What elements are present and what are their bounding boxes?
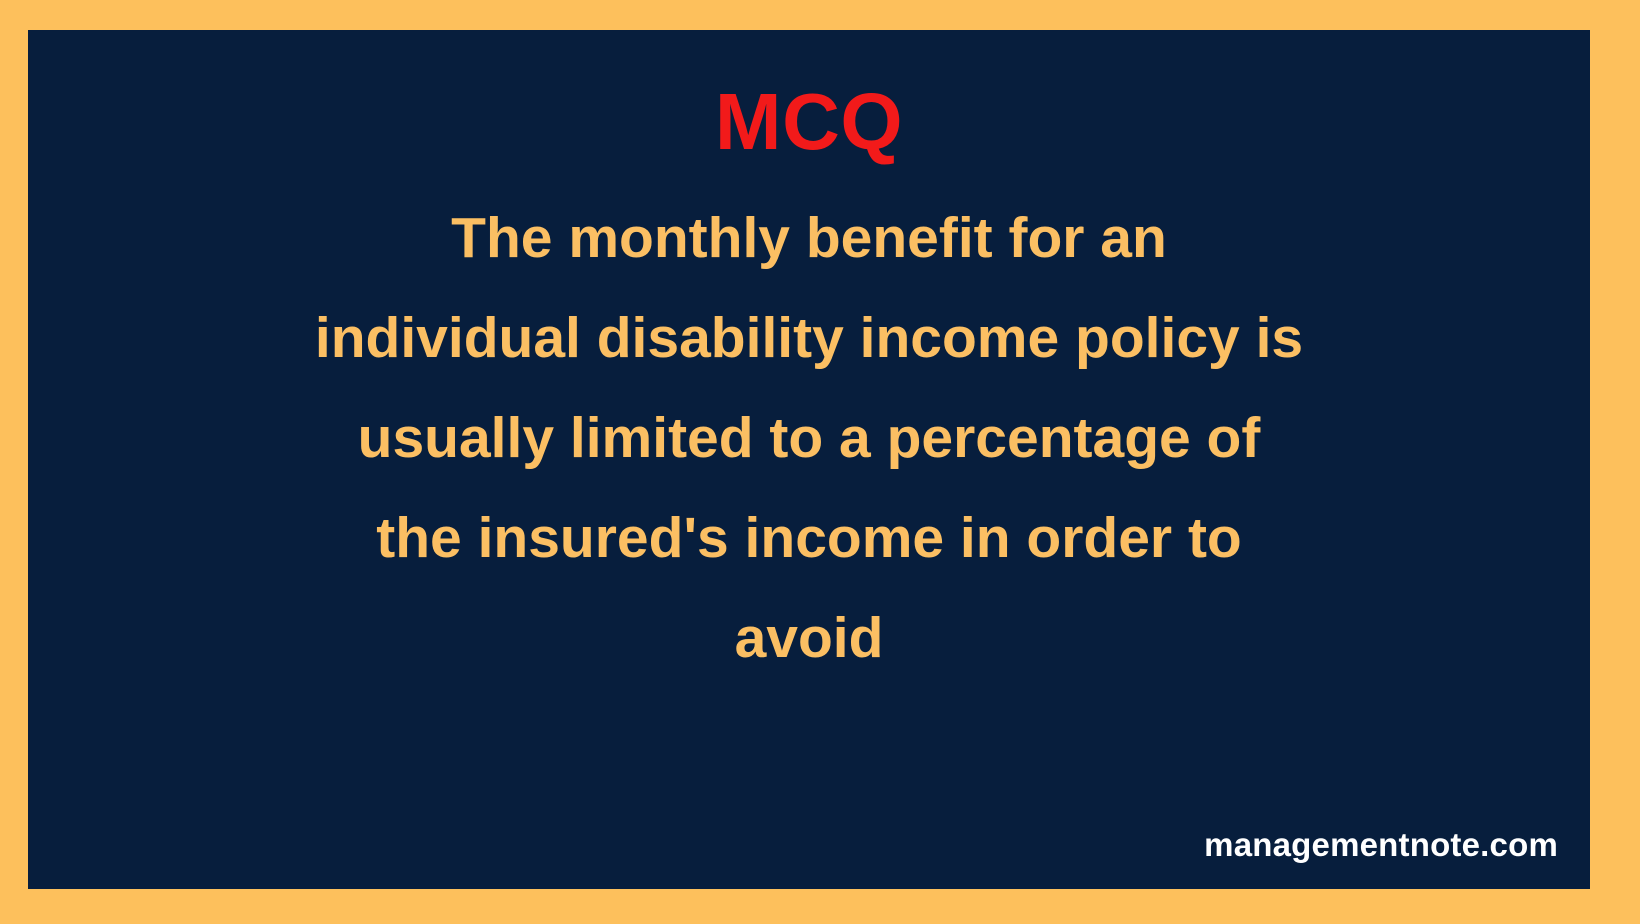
slide-frame: MCQ The monthly benefit for an individua… [0, 0, 1640, 924]
slide-card: MCQ The monthly benefit for an individua… [28, 30, 1590, 889]
question-line: The monthly benefit for an [451, 188, 1167, 288]
question-line: usually limited to a percentage of [358, 388, 1261, 488]
question-line: avoid [735, 588, 884, 688]
question-line: individual disability income policy is [315, 288, 1303, 388]
page-title: MCQ [715, 82, 903, 162]
watermark-container: managementnote.com [1204, 828, 1558, 861]
question-line: the insured's income in order to [376, 488, 1242, 588]
site-watermark: managementnote.com [1204, 828, 1558, 861]
question-text-block: The monthly benefit for an individual di… [28, 188, 1590, 688]
